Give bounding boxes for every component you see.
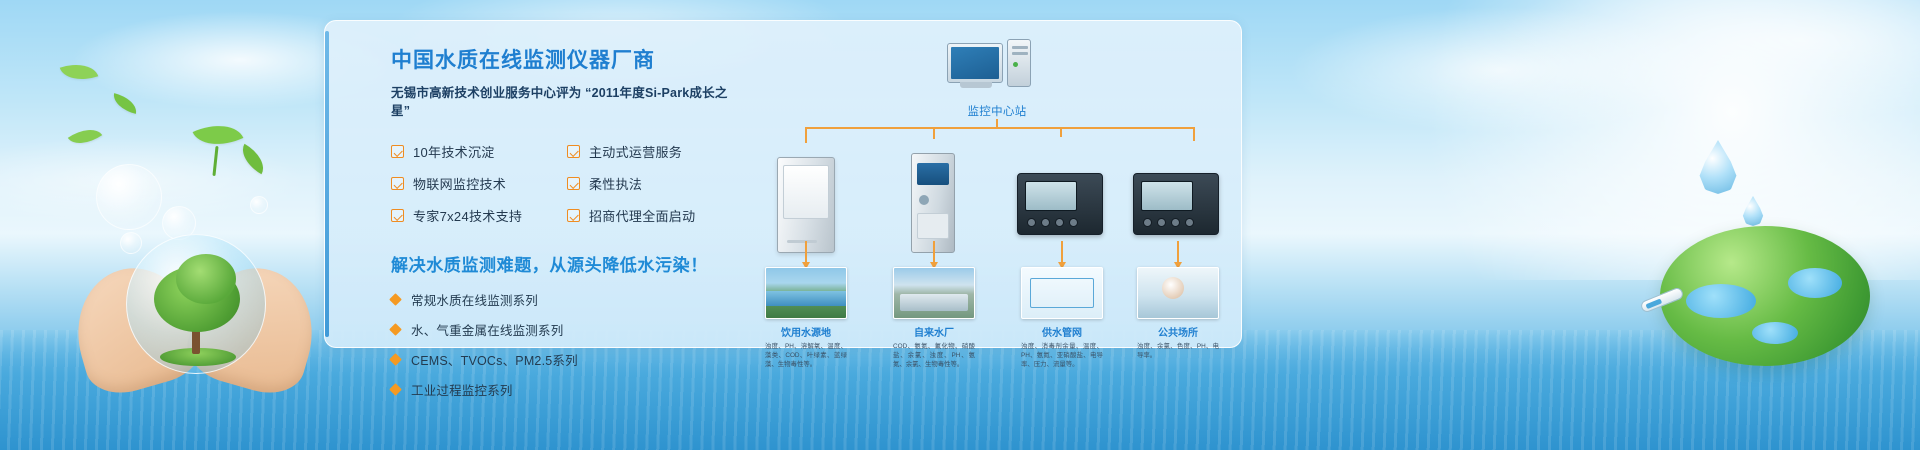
checkbox-icon: [391, 145, 404, 158]
connector-bus: [805, 127, 1195, 129]
feature-label: 物联网监控技术: [413, 174, 506, 193]
series-item-0[interactable]: 常规水质在线监测系列: [391, 290, 741, 309]
feature-label: 主动式运营服务: [589, 142, 682, 161]
scene-description: 浊度、PH、溶解氧、温度、藻类、COD、叶绿素、蓝绿藻、生物毒性等。: [765, 342, 847, 369]
bubble-icon: [250, 196, 268, 214]
page-title: 中国水质在线监测仪器厂商: [391, 47, 741, 75]
feature-item-4[interactable]: 专家7x24技术支持: [391, 206, 567, 225]
feature-label: 招商代理全面启动: [589, 206, 695, 225]
series-list: 常规水质在线监测系列 水、气重金属在线监测系列 CEMS、TVOCs、PM2.5…: [391, 290, 741, 399]
leaf-icon: [60, 57, 99, 87]
water-droplet-icon-small: [1742, 196, 1764, 226]
scene-description: 浊度、余氯、色度、PH、电导率。: [1137, 342, 1219, 360]
checkbox-icon: [567, 145, 580, 158]
scene-card-1[interactable]: 自来水厂 COD、氨氮、氟化物、硝酸盐、余氯、浊度、PH、氨氮、余氯、生物毒性等…: [893, 267, 975, 369]
scene-label: 公共场所: [1137, 324, 1219, 339]
scene-card-2[interactable]: 供水管网 浊度、消毒剂余量、温度、PH、氨氮、亚硝酸盐、电导率、压力、流量等。: [1021, 267, 1103, 369]
scene-thumbnail-plant: [893, 267, 975, 319]
lake-shape: [1686, 284, 1756, 318]
hands-holding-tree-illustration: [70, 228, 320, 388]
series-label: 工业过程监控系列: [411, 380, 513, 399]
cabinet-icon: [777, 157, 835, 253]
down-arrow-icon: [933, 241, 935, 263]
system-topology-diagram: 监控中心站: [765, 35, 1225, 345]
monitoring-center-node[interactable]: [947, 41, 1047, 97]
sprout-stem-icon: [212, 146, 218, 176]
diamond-bullet-icon: [389, 353, 402, 366]
series-item-1[interactable]: 水、气重金属在线监测系列: [391, 320, 741, 339]
scene-description: 浊度、消毒剂余量、温度、PH、氨氮、亚硝酸盐、电导率、压力、流量等。: [1021, 342, 1103, 369]
feature-item-3[interactable]: 柔性执法: [567, 174, 743, 193]
bubble-icon: [96, 164, 162, 230]
series-item-3[interactable]: 工业过程监控系列: [391, 380, 741, 399]
scene-thumbnail-faucet: [1137, 267, 1219, 319]
down-arrow-icon: [1061, 241, 1063, 263]
green-earth-illustration: [1660, 226, 1870, 366]
scene-label: 供水管网: [1021, 324, 1103, 339]
down-arrow-icon: [805, 241, 807, 263]
feature-label: 柔性执法: [589, 174, 642, 193]
computer-monitor-icon: [947, 43, 1003, 83]
down-arrow-icon: [1177, 241, 1179, 263]
scene-thumbnail-river: [765, 267, 847, 319]
device-controller-unit-2[interactable]: [1133, 173, 1219, 235]
lake-shape: [1788, 268, 1842, 298]
series-label: 水、气重金属在线监测系列: [411, 320, 563, 339]
lake-shape: [1752, 322, 1798, 344]
feature-label: 专家7x24技术支持: [413, 206, 522, 225]
series-label: CEMS、TVOCs、PM2.5系列: [411, 350, 578, 369]
computer-tower-icon: [1007, 39, 1031, 87]
scene-label: 饮用水源地: [765, 324, 847, 339]
page-subtitle: 无锡市高新技术创业服务中心评为 “2011年度Si-Park成长之星”: [391, 84, 741, 120]
diamond-bullet-icon: [389, 323, 402, 336]
leaf-icon: [111, 93, 140, 114]
checkbox-icon: [567, 177, 580, 190]
device-controller-unit[interactable]: [1017, 173, 1103, 235]
feature-item-0[interactable]: 10年技术沉淀: [391, 142, 567, 161]
feature-item-2[interactable]: 物联网监控技术: [391, 174, 567, 193]
device-row: [765, 135, 1225, 253]
diamond-bullet-icon: [389, 383, 402, 396]
feature-label: 10年技术沉淀: [413, 142, 495, 161]
controller-icon: [1017, 173, 1103, 235]
series-item-2[interactable]: CEMS、TVOCs、PM2.5系列: [391, 350, 741, 369]
feature-item-1[interactable]: 主动式运营服务: [567, 142, 743, 161]
leaf-icon: [236, 144, 271, 175]
leaf-icon: [68, 121, 102, 152]
feature-item-5[interactable]: 招商代理全面启动: [567, 206, 743, 225]
feature-list: 10年技术沉淀 主动式运营服务 物联网监控技术 柔性执法 专家7x24技术支持 …: [391, 142, 741, 225]
hero-card: 中国水质在线监测仪器厂商 无锡市高新技术创业服务中心评为 “2011年度Si-P…: [324, 20, 1242, 348]
series-label: 常规水质在线监测系列: [411, 290, 538, 309]
sun-glow: [1360, 0, 1920, 280]
device-analyzer-rack[interactable]: [911, 153, 955, 253]
device-water-cabinet[interactable]: [777, 157, 835, 253]
rack-icon: [911, 153, 955, 253]
scene-description: COD、氨氮、氟化物、硝酸盐、余氯、浊度、PH、氨氮、余氯、生物毒性等。: [893, 342, 975, 369]
scene-thumbnail-pipeline: [1021, 267, 1103, 319]
monitoring-center-label: 监控中心站: [915, 103, 1079, 119]
scene-label: 自来水厂: [893, 324, 975, 339]
water-droplet-icon: [1698, 140, 1738, 194]
scene-card-0[interactable]: 饮用水源地 浊度、PH、溶解氧、温度、藻类、COD、叶绿素、蓝绿藻、生物毒性等。: [765, 267, 847, 369]
diamond-bullet-icon: [389, 293, 402, 306]
tree-crown-top: [176, 254, 236, 304]
scene-card-3[interactable]: 公共场所 浊度、余氯、色度、PH、电导率。: [1137, 267, 1219, 360]
hero-text-pane: 中国水质在线监测仪器厂商 无锡市高新技术创业服务中心评为 “2011年度Si-P…: [391, 47, 741, 399]
section-title: 解决水质监测难题，从源头降低水污染！: [391, 251, 741, 276]
checkbox-icon: [391, 209, 404, 222]
checkbox-icon: [567, 209, 580, 222]
controller-icon: [1133, 173, 1219, 235]
checkbox-icon: [391, 177, 404, 190]
